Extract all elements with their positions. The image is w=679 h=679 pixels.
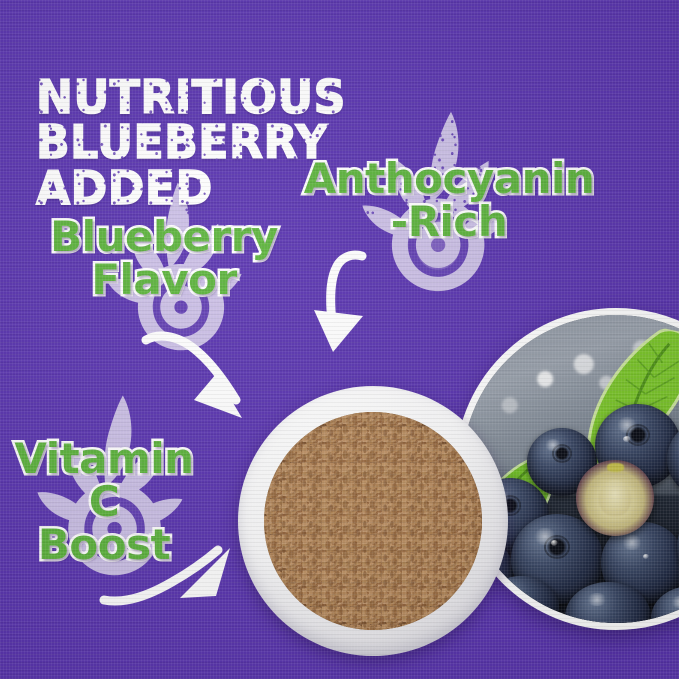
water-droplet (551, 540, 558, 546)
water-droplet (519, 596, 527, 602)
label-line-1: Blueberry (30, 216, 298, 259)
kibble-bowl (238, 386, 508, 656)
headline-line-1: NUTRITIOUS BLUEBERRY (36, 75, 631, 166)
label-line-1: Anthocyanin (284, 158, 614, 201)
feature-label-blueberry-flavor: Blueberry Flavor (30, 216, 298, 302)
label-line-2: Flavor (30, 259, 298, 302)
halved-blueberry (576, 460, 654, 536)
product-infographic-banner: NUTRITIOUS BLUEBERRY ADDED Anthocyanin -… (0, 0, 679, 679)
label-line-2: -Rich (284, 201, 614, 244)
water-droplet (623, 436, 631, 442)
curved-arrow-down-icon (300, 248, 390, 358)
water-droplet (643, 554, 649, 559)
label-line-1: Vitamin C (0, 438, 214, 524)
curved-arrow-right-icon (96, 528, 241, 616)
kibble-pile (264, 412, 483, 631)
feature-label-anthocyanin: Anthocyanin -Rich (284, 158, 614, 244)
curved-arrow-down-right-icon (132, 322, 262, 432)
